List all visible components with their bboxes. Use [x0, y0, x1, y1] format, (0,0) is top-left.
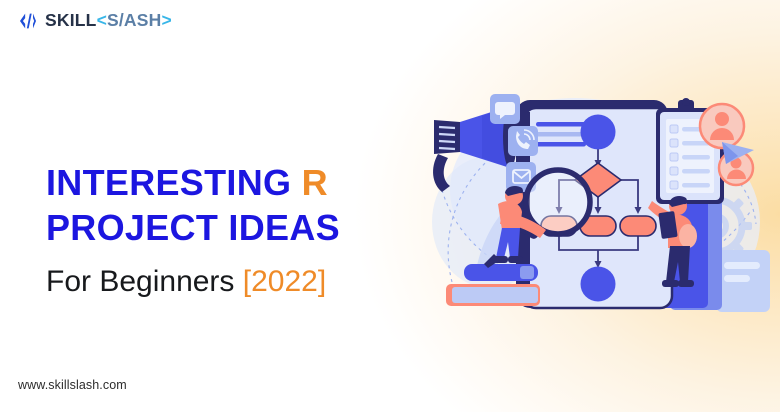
- brand-wordmark: SKILL<S/ASH>: [45, 12, 172, 30]
- brand-word-slash: S/ASH: [107, 10, 161, 30]
- code-brackets-icon: [18, 11, 38, 31]
- flowchart-start-node: [581, 115, 616, 150]
- page-title: INTERESTING R PROJECT IDEAS: [46, 160, 340, 251]
- headline-line-2: PROJECT IDEAS: [46, 207, 340, 248]
- board-text-lines: [536, 122, 586, 147]
- flowchart-planning-illustration: [420, 72, 780, 340]
- back-card-right: [716, 250, 770, 312]
- promo-banner: SKILL<S/ASH> INTERESTING R PROJECT IDEAS…: [0, 0, 780, 412]
- flowchart-end-node: [581, 267, 616, 302]
- brand-word-skill: SKILL: [45, 10, 97, 30]
- subtitle-year: [2022]: [243, 265, 326, 298]
- brand-bracket-close: >: [161, 10, 171, 30]
- headline-text-a: INTERESTING: [46, 162, 302, 203]
- headline-accent-r: R: [302, 162, 328, 203]
- headline-line-1: INTERESTING R: [46, 162, 328, 203]
- page-subtitle: For Beginners [2022]: [46, 262, 326, 301]
- subtitle-text: For Beginners: [46, 265, 243, 298]
- chat-bubble-badge: [490, 94, 520, 124]
- brand-bracket-open: <: [97, 10, 107, 30]
- brand-logo[interactable]: SKILL<S/ASH>: [18, 11, 172, 31]
- phone-ring-badge: [508, 126, 538, 156]
- user-avatar-badge-1: [700, 104, 744, 148]
- footer-website-url: www.skillslash.com: [18, 378, 127, 392]
- illustration-canvas: [420, 72, 780, 340]
- flowchart-task-node-3: [620, 216, 656, 236]
